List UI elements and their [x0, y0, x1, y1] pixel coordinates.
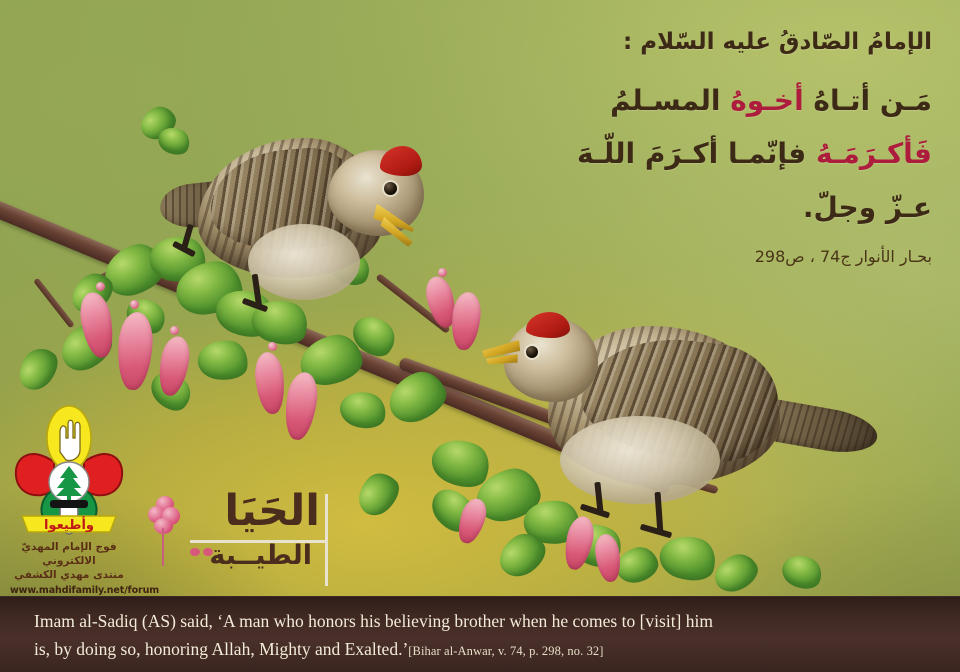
bird-foot — [580, 504, 610, 519]
hadith-source-citation: بحـار الأنوار ج74 ، ص298 — [480, 247, 932, 266]
blossom-dot — [96, 282, 105, 291]
bird-eye — [384, 182, 397, 195]
bird-belly — [248, 224, 360, 300]
hadith-line-1-part-c: المسـلمُ — [610, 84, 730, 117]
scout-org-line-2: منتدى مهدي الكشفي — [10, 568, 128, 582]
flower-stem — [162, 528, 164, 566]
blossom-dot — [438, 268, 447, 277]
al-haya-logo-top-text: الحَيَا — [224, 490, 320, 533]
al-haya-logo-bottom-text: الطيــبة — [209, 542, 312, 569]
hadith-line-1: مَـن أتـاهُ أخـوهُ المسـلمُ — [480, 79, 932, 122]
caption-line-2-wrapper: is, by doing so, honoring Allah, Mighty … — [34, 635, 926, 663]
hadith-line-2-part-b: فإنّمـا أكـرَمَ اللّـهَ — [577, 137, 816, 170]
caption-band: Imam al-Sadiq (AS) said, ‘A man who hono… — [0, 596, 960, 672]
scout-org-line-1: فوج الإمام المهديّ الالكتروني — [10, 540, 128, 568]
blossom-dot — [130, 300, 139, 309]
bird-belly — [560, 416, 720, 504]
hadith-attribution: الإمامُ الصّادقُ عليه السّلام : — [480, 28, 932, 57]
caption-text-block: Imam al-Sadiq (AS) said, ‘A man who hono… — [0, 596, 960, 664]
hadith-line-1-part-a: مَـن أتـاهُ — [804, 84, 932, 117]
scout-emblem-logo: وأطيعوا فوج الإمام المهديّ الالكتروني من… — [10, 404, 128, 592]
bird-eye — [526, 346, 538, 358]
redpoll-bird-bottom — [474, 296, 870, 544]
bird-red-cap — [526, 312, 570, 338]
poster-image: الإمامُ الصّادقُ عليه السّلام : مَـن أتـ… — [0, 0, 960, 672]
scout-logo-text: فوج الإمام المهديّ الالكتروني منتدى مهدي… — [10, 540, 128, 597]
hadith-line-2-highlight: فَأكـرَمَـهُ — [816, 137, 932, 170]
al-haya-logo: الحَيَا الطيــبة — [146, 490, 326, 590]
redpoll-bird-top — [176, 128, 438, 344]
hadith-line-3: عـزّ وجلّ. — [480, 186, 932, 229]
caption-line-1: Imam al-Sadiq (AS) said, ‘A man who hono… — [34, 607, 926, 635]
fleur-de-lis-icon: وأطيعوا — [10, 404, 128, 536]
scout-motto-text: وأطيعوا — [44, 516, 94, 533]
hadith-line-1-highlight: أخـوهُ — [730, 84, 803, 117]
flower-icon — [148, 496, 182, 536]
scout-website-url[interactable]: www.mahdifamily.net/forum — [10, 584, 128, 597]
caption-reference: [Bihar al-Anwar, v. 74, p. 298, no. 32] — [408, 644, 603, 658]
caption-line-2: is, by doing so, honoring Allah, Mighty … — [34, 639, 408, 659]
hadith-line-2: فَأكـرَمَـهُ فإنّمـا أكـرَمَ اللّـهَ — [480, 132, 932, 175]
arabic-quote-block: الإمامُ الصّادقُ عليه السّلام : مَـن أتـ… — [480, 28, 932, 266]
